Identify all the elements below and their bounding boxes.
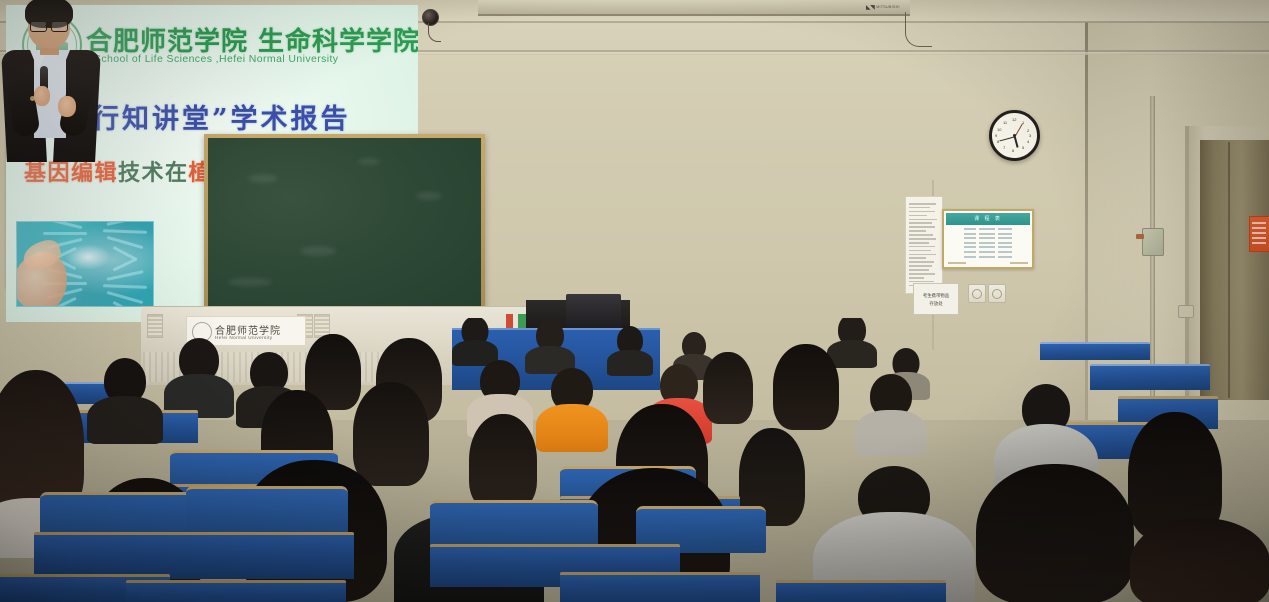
right-notice-board-title: 课 程 表 [946, 213, 1030, 225]
audience-member [466, 414, 540, 510]
clock-hour-hand [1014, 136, 1018, 147]
glasses-icon [30, 21, 68, 30]
right-notice-board-header: 课 程 表 [946, 213, 1030, 225]
audience-member [860, 374, 922, 452]
clock-numeral-4: 4 [1027, 139, 1029, 144]
chalk-smudge [248, 174, 278, 183]
right-notice-board: 课 程 表 [942, 209, 1034, 269]
audience-member [92, 358, 158, 438]
right-notice-board-footer [948, 262, 1028, 264]
clock-numeral-10: 10 [997, 127, 1001, 132]
desk-front-row [126, 580, 346, 602]
audience-member [1130, 518, 1269, 602]
storage-sign-right-line2: 存放处 [929, 301, 942, 307]
empty-desk [1040, 342, 1150, 360]
right-notice-board-rows [958, 228, 1018, 260]
audience-member [168, 338, 230, 410]
chalkboard [208, 138, 481, 310]
light-switch-left[interactable] [968, 284, 986, 303]
exit-notice-text [1252, 222, 1266, 244]
right-wall-paper-notice [905, 196, 943, 294]
audience-member [540, 368, 604, 446]
audience-hair [703, 352, 753, 424]
audience-body [87, 396, 163, 444]
slide-topic-part1: 基因编辑 [24, 160, 118, 186]
empty-desk [1090, 364, 1210, 390]
chalk-smudge [416, 192, 442, 200]
light-switch-knob-icon [972, 289, 982, 299]
slide-topic-part2: 技术在 [118, 160, 189, 186]
audience-hair [469, 414, 537, 510]
clock-numeral-6: 6 [1012, 148, 1014, 153]
clock-numeral-5: 5 [1022, 145, 1024, 150]
chalk-smudge [358, 158, 380, 165]
lecture-hall-photo: 温馨提示 / 防火安全 合肥师范学院 教务处 宣传部制 考生携带物品 存放处 [0, 0, 1269, 602]
slide-image-glow [65, 244, 111, 270]
projector-brand-text: MITSUBISHI [876, 5, 900, 9]
mitsubishi-diamond-icon: ◣◥ [866, 4, 874, 11]
desk-front-row [776, 580, 946, 602]
chalkboard-frame [204, 134, 485, 314]
junction-box [1142, 228, 1164, 256]
audience-member [528, 320, 572, 368]
audience-member [610, 326, 650, 370]
projector-screen-housing [478, 0, 910, 16]
clock-numeral-11: 11 [1003, 120, 1007, 125]
chalk-smudge [228, 278, 272, 286]
desk-front-row [560, 572, 760, 602]
audience-member [770, 344, 842, 430]
audience-body [855, 410, 927, 456]
projector-brand-logo: ◣◥ MITSUBISHI [866, 3, 908, 11]
audience-hair [1130, 518, 1269, 602]
slide-dna-helix-image [16, 221, 154, 307]
storage-sign-right: 考生携带物品 存放处 [913, 283, 959, 315]
storage-sign-right-line1: 考生携带物品 [923, 293, 949, 299]
slide-school-name-en: School of Life Sciences ,Hefei Normal Un… [94, 53, 338, 65]
audience-member [700, 352, 756, 426]
desk-row-c [34, 532, 354, 579]
speaker-hand-left [34, 86, 50, 106]
clock-numeral-7: 7 [1003, 145, 1005, 150]
clock-center-pin [1013, 134, 1016, 137]
audience-area [0, 318, 1269, 602]
chalk-smudge [300, 246, 336, 256]
audience-hair [773, 344, 839, 430]
clock-numeral-9: 9 [995, 133, 997, 138]
right-wall-paper-lines [909, 203, 939, 289]
speaker-hand-right [58, 96, 76, 117]
wall-outlet[interactable] [1178, 305, 1194, 318]
audience-body [607, 350, 653, 376]
clock-numeral-12: 12 [1012, 117, 1016, 122]
junction-box-tab-icon [1136, 234, 1144, 239]
clock-numeral-3: 3 [1029, 133, 1031, 138]
light-switch-knob-icon [992, 289, 1002, 299]
audience-hair [976, 464, 1134, 602]
audience-body [536, 404, 608, 452]
wall-clock: 12 1 2 3 4 5 6 7 8 9 10 11 [989, 110, 1040, 161]
audience-member [455, 318, 495, 362]
lapel-pin-icon [30, 96, 35, 101]
light-switch-right[interactable] [988, 284, 1006, 303]
screen-power-wire [905, 12, 932, 47]
audience-member [972, 464, 1138, 602]
